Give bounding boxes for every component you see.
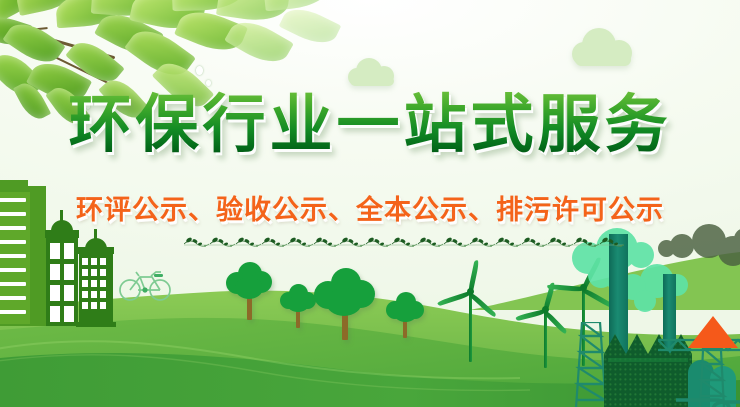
window-band (0, 254, 26, 258)
turbine-blade (468, 292, 497, 318)
window-band (0, 268, 26, 272)
tower-body (46, 237, 78, 326)
turbine-hub (467, 288, 474, 295)
turbine-blade (437, 291, 471, 306)
window (91, 291, 97, 298)
window (82, 269, 88, 276)
tree-1 (226, 262, 274, 320)
window (50, 264, 60, 280)
window (50, 285, 60, 301)
dew-drop (196, 66, 203, 75)
bicycle (118, 266, 172, 302)
window (100, 269, 106, 276)
smoke-plume-right (618, 264, 698, 320)
tree-2 (280, 284, 316, 328)
window (50, 243, 60, 259)
window (82, 258, 88, 265)
tower-domed-a (44, 220, 80, 326)
window (91, 280, 97, 287)
factory-complex (576, 236, 740, 407)
window-band (0, 296, 26, 300)
dew-drop (206, 80, 211, 86)
window (64, 243, 74, 259)
turbine-hub (542, 306, 549, 313)
window (91, 258, 97, 265)
factory-pipe (676, 394, 740, 407)
window (82, 302, 88, 309)
window-band (0, 310, 26, 314)
window (100, 302, 106, 309)
window (82, 291, 88, 298)
turbine-mast (469, 290, 472, 362)
window (64, 306, 74, 322)
window (100, 291, 106, 298)
window (91, 302, 97, 309)
tower-base (76, 322, 116, 327)
tower-domed-b (76, 238, 116, 326)
tree-4 (386, 292, 424, 338)
cloud-large-right (572, 28, 638, 68)
window (100, 280, 106, 287)
vine-leaf-divider (184, 236, 624, 250)
cloud-small-center (348, 56, 400, 86)
page-subtitle: 环评公示、验收公示、全本公示、排污许可公示 (0, 188, 740, 227)
turbine-blade (515, 309, 545, 321)
roof-marker-triangle (688, 316, 738, 348)
lattice-pylon-left (574, 322, 608, 407)
window (91, 269, 97, 276)
window (82, 280, 88, 287)
window-band (0, 282, 26, 286)
window-band (0, 240, 26, 244)
window (64, 264, 74, 280)
window (64, 285, 74, 301)
wind-turbine-1 (440, 272, 510, 362)
page-title: 环保行业一站式服务 (0, 88, 740, 160)
eco-service-banner: 环保行业一站式服务 环评公示、验收公示、全本公示、排污许可公示 (0, 0, 740, 407)
window (50, 306, 60, 322)
window (100, 258, 106, 265)
tower-body (79, 253, 113, 326)
tree-3 (314, 268, 376, 340)
